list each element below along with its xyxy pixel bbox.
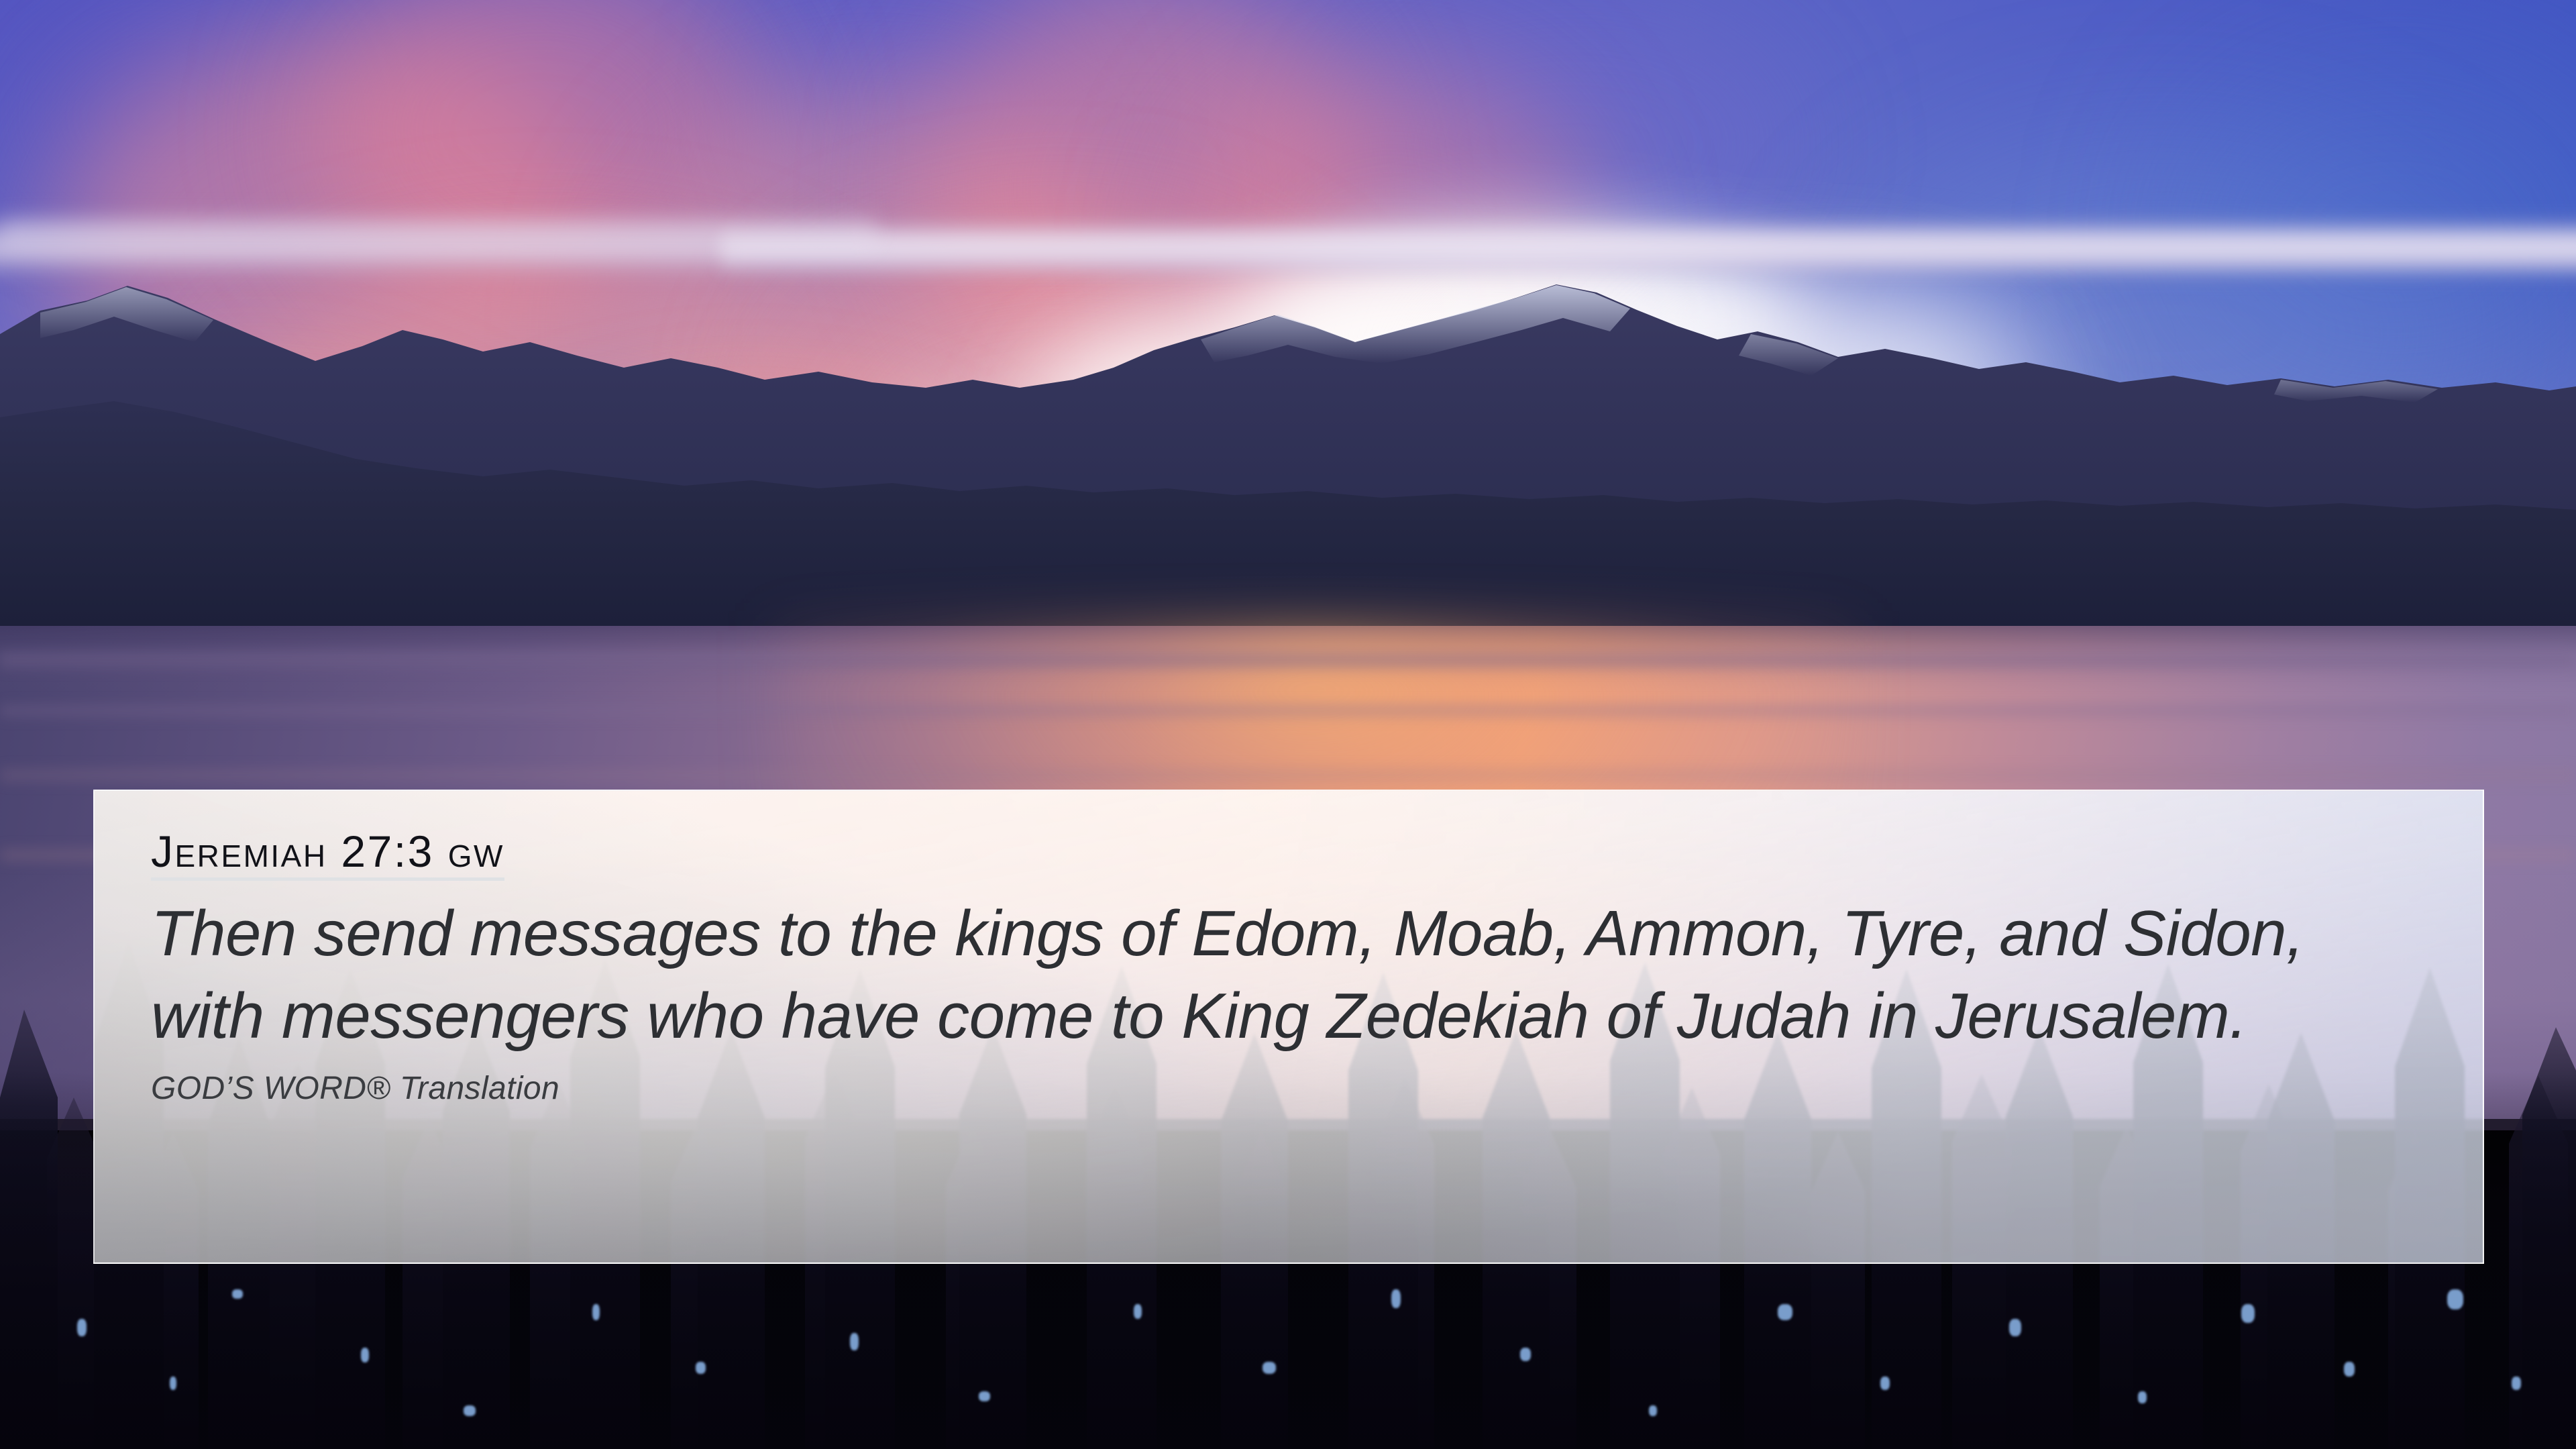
snow-speckle xyxy=(464,1405,476,1416)
lake-ripple-3 xyxy=(0,768,2576,783)
snow-speckle xyxy=(1880,1377,1890,1390)
snow-speckle xyxy=(696,1362,706,1374)
snow-speckle xyxy=(979,1391,990,1401)
snow-speckle xyxy=(77,1319,87,1336)
translation-attribution: GOD’S WORD® Translation xyxy=(151,1070,2426,1107)
snow-speckle xyxy=(2344,1362,2355,1377)
snow-speckle xyxy=(1520,1348,1531,1361)
card-content: Jeremiah 27:3 GW Then send messages to t… xyxy=(95,791,2483,1107)
snow-speckle xyxy=(1134,1304,1142,1319)
lake-ripple-2 xyxy=(0,704,2576,717)
scripture-image-canvas: Jeremiah 27:3 GW Then send messages to t… xyxy=(0,0,2576,1449)
snow-speckle xyxy=(1263,1362,1276,1374)
snow-speckle xyxy=(2241,1304,2255,1323)
verse-reference: Jeremiah 27:3 GW xyxy=(151,828,504,881)
snow-speckle xyxy=(850,1333,859,1350)
snow-speckle xyxy=(2512,1377,2521,1390)
mountain-ridge-near xyxy=(0,196,2576,674)
snow-speckle xyxy=(1778,1304,1792,1320)
snow-speckle xyxy=(361,1348,369,1362)
lake-ripple-1 xyxy=(0,652,2576,668)
scripture-quote-card: Jeremiah 27:3 GW Then send messages to t… xyxy=(93,790,2484,1264)
verse-body-text: Then send messages to the kings of Edom,… xyxy=(151,893,2418,1058)
snow-speckle xyxy=(592,1304,600,1320)
snow-speckle xyxy=(2009,1319,2021,1336)
snow-speckle xyxy=(1649,1405,1657,1416)
snow-speckle xyxy=(1391,1289,1401,1308)
snow-speckle xyxy=(170,1377,176,1390)
snow-speckle xyxy=(232,1289,243,1299)
snow-speckle xyxy=(2447,1289,2463,1309)
snow-speckle xyxy=(2138,1391,2147,1403)
